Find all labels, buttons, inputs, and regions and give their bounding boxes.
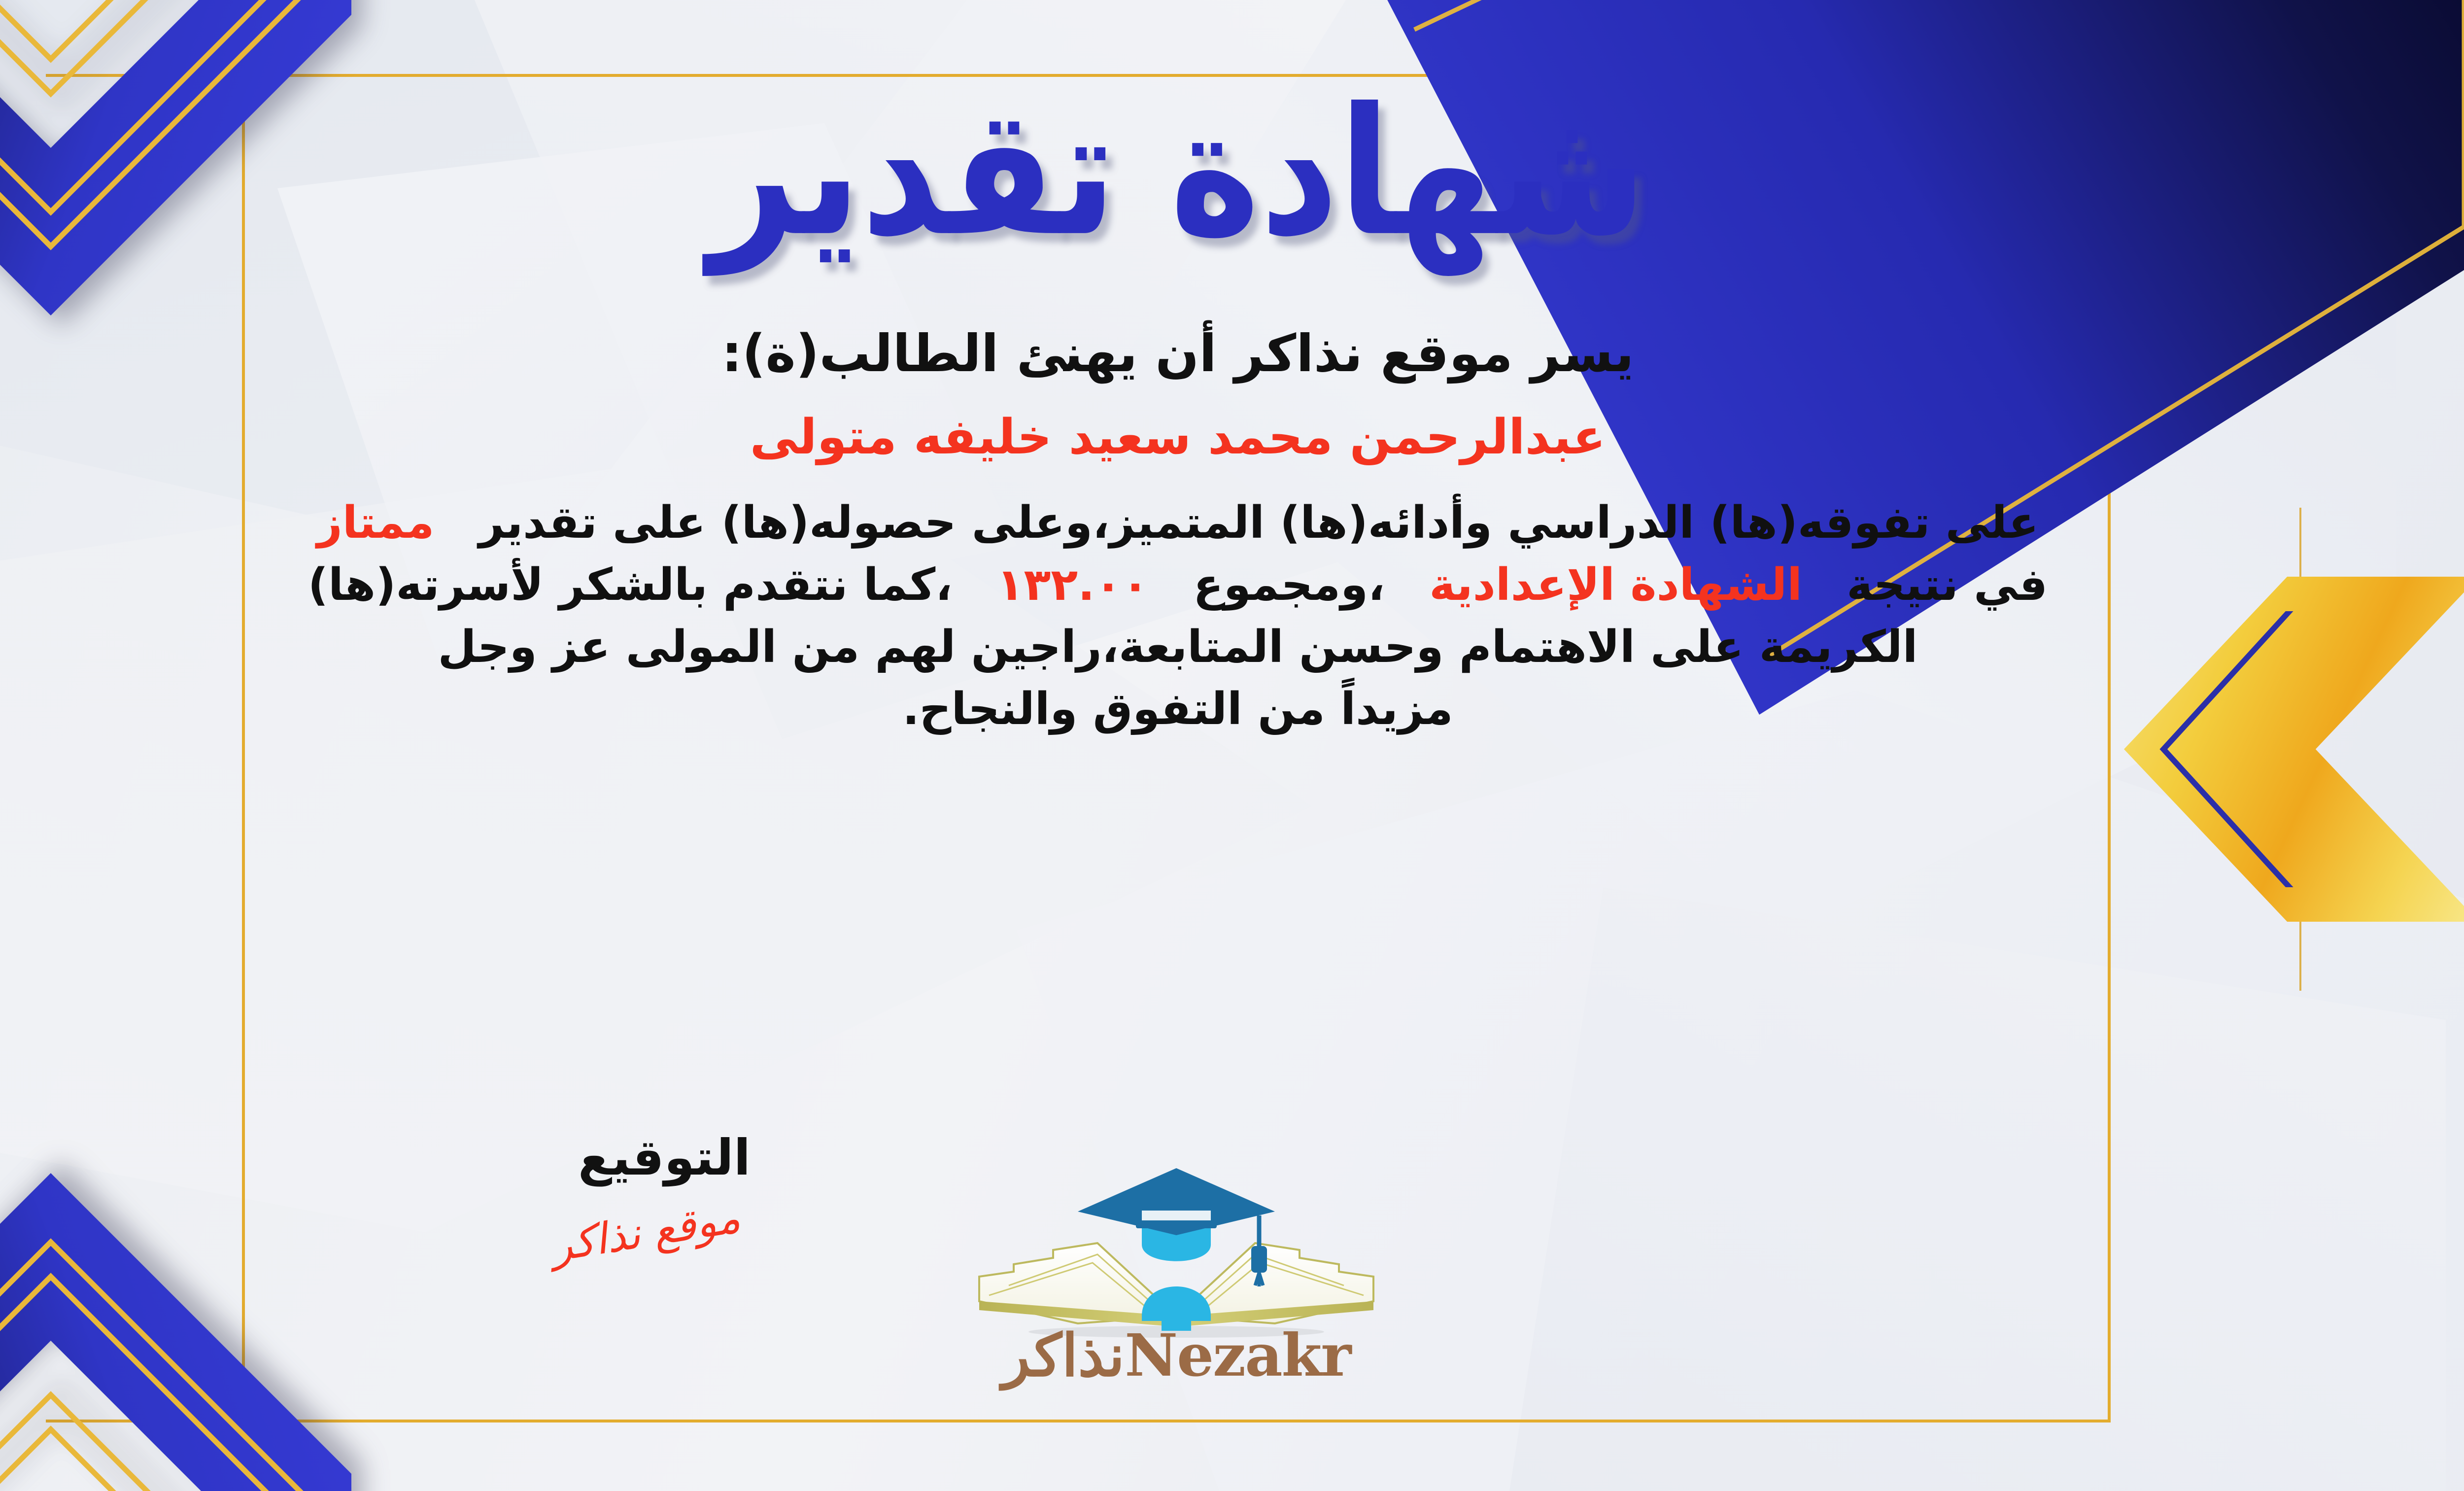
citation-line-2-mid: ،ومجموع xyxy=(1193,559,1385,611)
student-name: عبدالرحمن محمد سعيد خليفه متولى xyxy=(750,409,1606,465)
citation-line-3: الكريمة على الاهتمام وحسن المتابعة،راجين… xyxy=(261,616,2094,678)
citation-line-4: مزيداً من التفوق والنجاح. xyxy=(261,678,2094,740)
greeting-text: يسر موقع نذاكر أن يهنئ الطالب(ة): xyxy=(721,323,1634,383)
logo-wordmark: Nezakrنذاكر xyxy=(930,1321,1423,1389)
certificate-canvas: شهادة تقدير يسر موقع نذاكر أن يهنئ الطال… xyxy=(0,0,2464,1491)
citation-line-2-prefix: في نتيجة xyxy=(1847,559,2048,611)
citation-line-1: على تفوقه(ها) الدراسي وأدائه(ها) المتميز… xyxy=(261,492,2094,554)
citation-line-1-text: على تفوقه(ها) الدراسي وأدائه(ها) المتميز… xyxy=(479,497,2039,549)
page-title: شهادة تقدير xyxy=(709,85,1647,261)
signature-value: موقع نذاكر xyxy=(548,1193,743,1271)
citation-body: على تفوقه(ها) الدراسي وأدائه(ها) المتميز… xyxy=(261,492,2094,740)
citation-line-2: في نتيجةالشهادة الإعدادية،ومجموع١٣٢.٠٠،ك… xyxy=(261,554,2094,616)
grade-value: ممتاز xyxy=(317,497,434,549)
exam-name: الشهادة الإعدادية xyxy=(1429,559,1802,611)
citation-line-2-suffix: ،كما نتقدم بالشكر لأسرته(ها) xyxy=(308,559,953,611)
brand-logo: Nezakrنذاكر xyxy=(930,1109,1423,1424)
total-score: ١٣٢.٠٠ xyxy=(996,559,1149,611)
certificate-footer: التوقيع موقع نذاكر xyxy=(245,1129,2111,1424)
signature-label: التوقيع xyxy=(578,1129,751,1186)
